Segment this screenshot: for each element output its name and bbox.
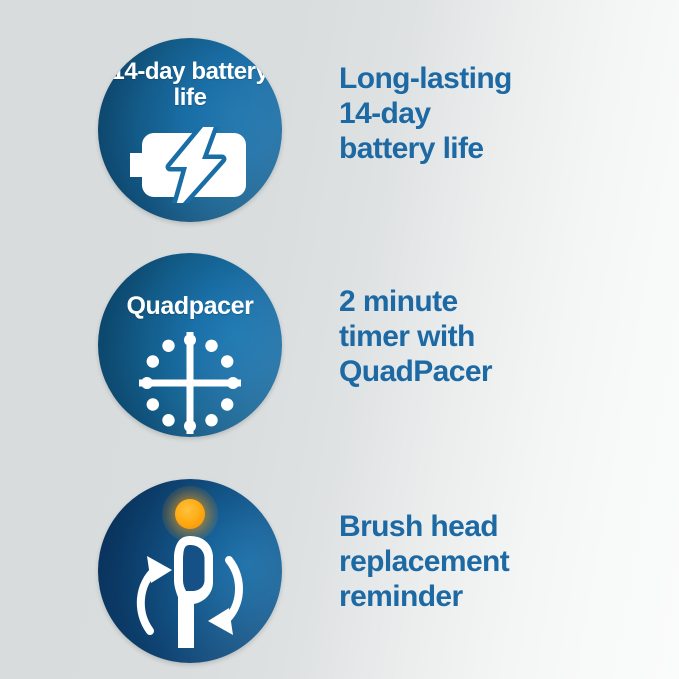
brush-head-replacement-icon bbox=[128, 534, 252, 654]
feature-badge-quadpacer: Quadpacer bbox=[98, 253, 282, 437]
feature-headline-quadpacer: 2 minute timer with QuadPacer bbox=[339, 285, 492, 389]
feature-headline-brush-head-reminder: Brush head replacement reminder bbox=[339, 510, 509, 614]
badge-caption-battery-life: 14-day battery life bbox=[98, 59, 282, 111]
feature-highlights-panel: 14-day battery life Long-lasting 14-day … bbox=[0, 0, 679, 679]
battery-charging-icon bbox=[130, 127, 250, 203]
feature-badge-brush-head-reminder bbox=[98, 479, 282, 663]
orange-reminder-light-icon bbox=[175, 499, 205, 529]
feature-badge-battery-life: 14-day battery life bbox=[98, 38, 282, 222]
feature-headline-battery-life: Long-lasting 14-day battery life bbox=[339, 62, 512, 166]
reminder-light-core bbox=[175, 499, 205, 529]
badge-caption-quadpacer: Quadpacer bbox=[98, 293, 282, 320]
quadpacer-timer-icon bbox=[138, 331, 242, 435]
